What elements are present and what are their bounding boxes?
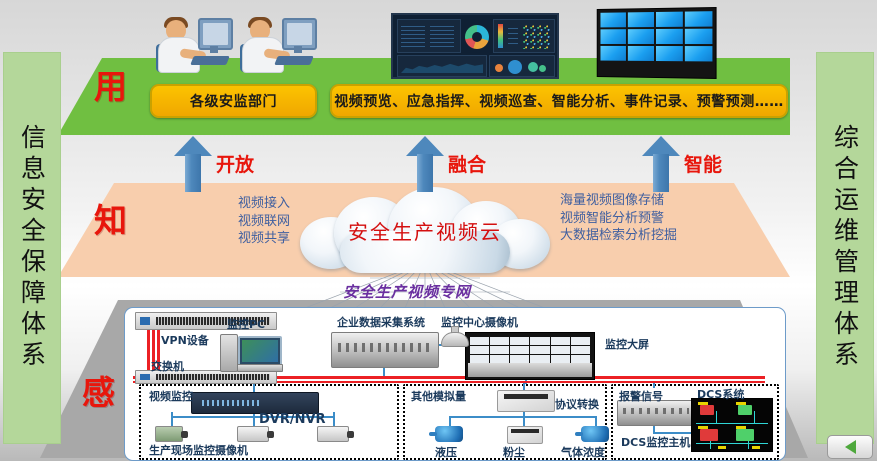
link-converter-bus	[523, 382, 525, 390]
dvr-nvr-icon	[191, 392, 319, 414]
pillar-information-security: 信息安全保障体系	[3, 52, 61, 444]
private-network-label: 安全生产视频专网	[343, 281, 471, 302]
keyboard-icon	[274, 56, 314, 65]
pc-monitor-icon	[238, 336, 282, 366]
device-label-dvr-nvr: DVR/NVR	[259, 412, 326, 427]
device-label-dcs-host: DCS监控主机	[621, 434, 690, 450]
group-label-video: 视频监控	[149, 388, 193, 404]
analytics-dashboard-image	[391, 13, 559, 79]
sensor-label-gas: 气体浓度	[561, 444, 605, 460]
video-wall-grid	[600, 11, 712, 61]
operator-illustration-2	[240, 16, 314, 78]
cloud-title: 安全生产视频云	[300, 187, 550, 273]
operator-illustration-1	[156, 16, 230, 78]
dust-sensor-icon	[507, 426, 543, 444]
dashboard-map-panel	[493, 19, 555, 53]
control-room-screen-image	[465, 332, 595, 380]
cloud-right-item-2: 视频智能分析预警	[560, 210, 760, 228]
arrow-label-open: 开放	[216, 150, 254, 177]
layer-glyph-sense: 感	[82, 366, 115, 414]
desktop-tower-icon	[220, 334, 238, 372]
screen-wall-grid	[470, 337, 590, 363]
monitor-stand	[210, 46, 218, 53]
control-desk-shape	[468, 363, 592, 377]
dashboard-donut-chart	[465, 25, 489, 49]
video-wall-image	[597, 7, 717, 79]
hydraulic-sensor-icon	[435, 426, 463, 442]
keyboard-icon	[190, 56, 230, 65]
arrow-open-icon	[174, 136, 212, 192]
dashboard-area-chart	[397, 55, 487, 77]
cloud-left-item-2: 视频联网	[150, 213, 290, 231]
layer-glyph-know: 知	[94, 194, 127, 242]
device-label-alarm-signal: 报警信号	[619, 388, 663, 404]
group-label-analog: 其他模拟量	[411, 388, 466, 404]
device-label-switch: 交换机	[151, 358, 184, 374]
cloud-left-item-1: 视频接入	[150, 195, 290, 213]
device-label-vpn: VPN设备	[161, 332, 209, 348]
data-collector-icon	[331, 332, 439, 368]
group-label-site-cameras: 生产现场监控摄像机	[149, 442, 248, 458]
ptz-camera-icon	[155, 426, 183, 442]
gas-sensor-icon	[581, 426, 609, 442]
device-label-converter: 协议转换	[555, 396, 599, 412]
device-label-dcs-system: DCS系统	[697, 386, 744, 402]
diagram-canvas: 用 知 感 各级安监部门 视频预览、应急指挥、视频巡查、智能分析、事件记录、预警…	[0, 0, 877, 461]
device-label-monitor-pc: 监控PC	[227, 316, 265, 332]
monitor-stand	[294, 46, 302, 53]
dashboard-colorbar	[498, 24, 503, 48]
arrow-intelligent-icon	[642, 136, 680, 192]
arrow-label-fusion: 融合	[448, 150, 486, 177]
cloud-right-item-3: 大数据检索分析挖掘	[560, 227, 760, 245]
pc-keyboard-icon	[237, 364, 283, 372]
corner-badge[interactable]	[827, 435, 873, 459]
sensor-label-hydraulic: 液压	[435, 444, 457, 460]
box-camera-icon-1	[237, 426, 269, 442]
play-triangle-icon	[845, 440, 856, 454]
arrow-fusion-icon	[406, 136, 444, 192]
cloud-left-capabilities: 视频接入 视频联网 视频共享	[150, 195, 290, 248]
dashboard-bubble-chart	[489, 55, 555, 77]
dept-box[interactable]: 各级安监部门	[150, 84, 317, 118]
pillar-right-text: 综合运维管理体系	[831, 124, 860, 372]
functions-box[interactable]: 视频预览、应急指挥、视频巡查、智能分析、事件记录、预警预测……	[330, 84, 788, 118]
sense-layer-panel: VPN设备 交换机 监控PC 企业数据采集系统 监控中心摄像机	[124, 307, 786, 461]
cloud-left-item-3: 视频共享	[150, 230, 290, 248]
cloud-right-item-1: 海量视频图像存储	[560, 192, 760, 210]
pillar-integrated-ops: 综合运维管理体系	[816, 52, 874, 444]
dome-camera-icon	[441, 326, 467, 346]
pillar-left-text: 信息安全保障体系	[18, 124, 47, 372]
device-label-big-screen: 监控大屏	[605, 336, 649, 352]
layer-glyph-use: 用	[94, 60, 127, 108]
box-camera-icon-2	[317, 426, 349, 442]
device-label-data-collector: 企业数据采集系统	[337, 314, 425, 330]
cloud-right-capabilities: 海量视频图像存储 视频智能分析预警 大数据检索分析挖掘	[560, 192, 760, 245]
arrow-label-intelligent: 智能	[684, 150, 722, 177]
dcs-hmi-image	[691, 398, 773, 452]
sensor-label-dust: 粉尘	[503, 444, 525, 460]
dashboard-table-panel	[397, 19, 461, 53]
protocol-converter-icon	[497, 390, 555, 412]
